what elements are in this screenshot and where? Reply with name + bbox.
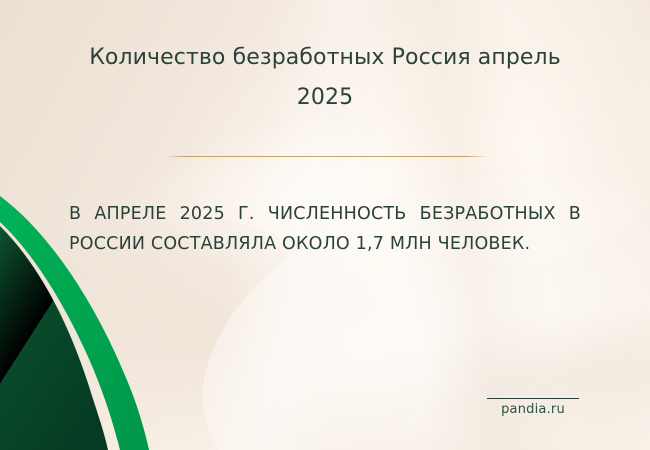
slide-title-line-2: 2025 bbox=[60, 78, 590, 118]
slide-title: Количество безработных Россия апрель 202… bbox=[60, 38, 590, 118]
title-divider-rule bbox=[163, 156, 488, 157]
watermark: pandia.ru bbox=[487, 398, 579, 418]
watermark-rule bbox=[487, 398, 579, 399]
slide-body-text: В АПРЕЛЕ 2025 Г. ЧИСЛЕННОСТЬ БЕЗРАБОТНЫХ… bbox=[69, 199, 581, 259]
watermark-label: pandia.ru bbox=[487, 402, 579, 418]
body-text-line-2: РОССИИ СОСТАВЛЯЛА ОКОЛО 1,7 МЛН ЧЕЛОВЕК. bbox=[69, 229, 581, 259]
body-text-line-1: В АПРЕЛЕ 2025 Г. ЧИСЛЕННОСТЬ БЕЗРАБОТНЫХ… bbox=[69, 199, 581, 229]
slide-title-line-1: Количество безработных Россия апрель bbox=[60, 38, 590, 78]
presentation-slide: Количество безработных Россия апрель 202… bbox=[0, 0, 650, 450]
